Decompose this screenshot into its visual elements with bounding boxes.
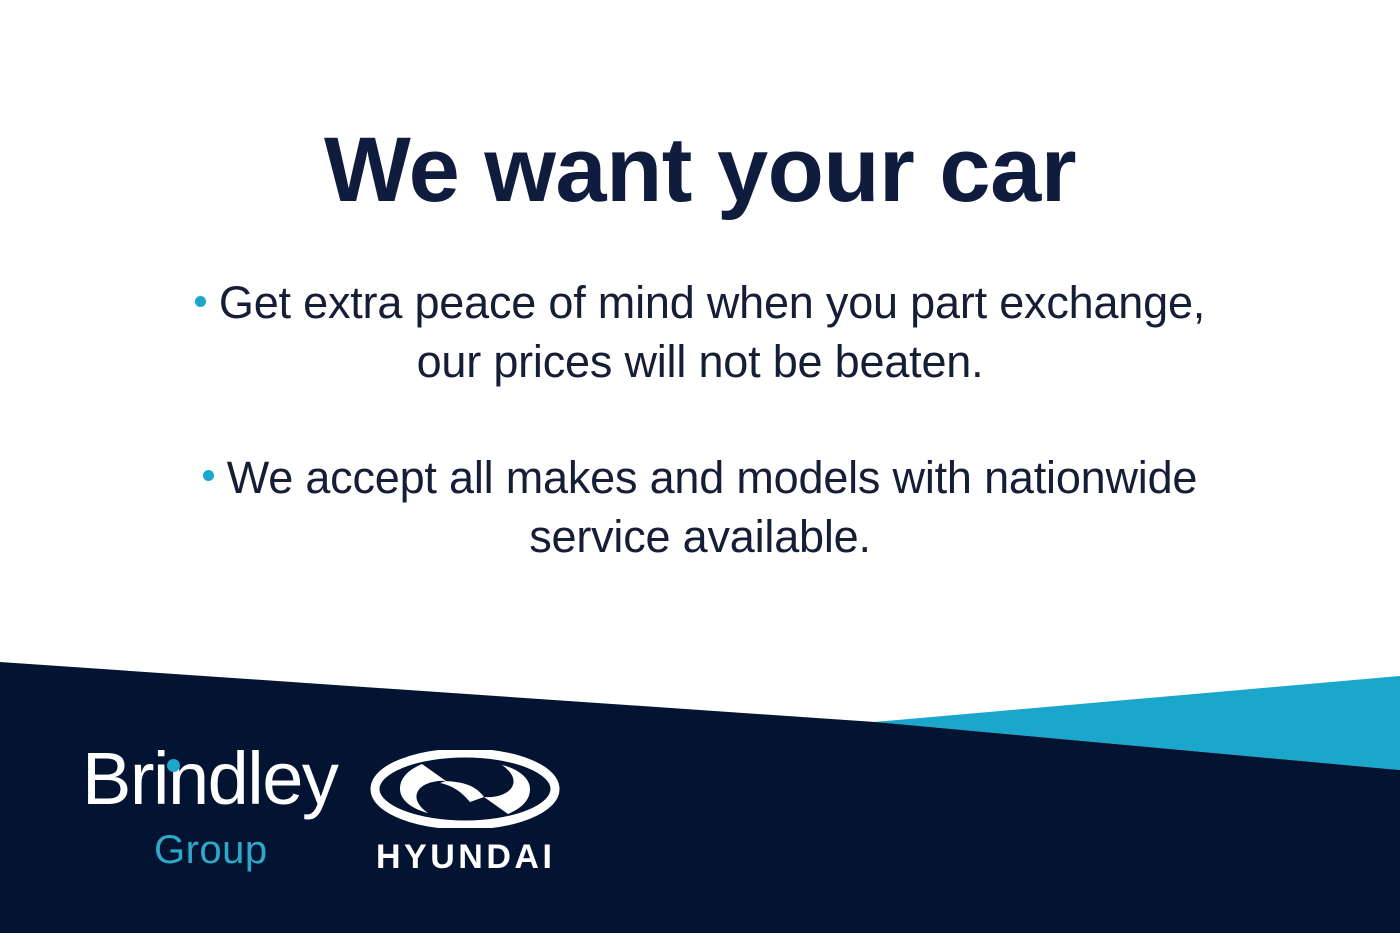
list-item: We accept all makes and models with nati… (180, 448, 1220, 567)
hyundai-emblem-icon (370, 750, 560, 828)
brindley-tittle-dot-icon (167, 759, 180, 772)
hyundai-wordmark: HYUNDAI (376, 840, 555, 874)
hyundai-logo: HYUNDAI (370, 750, 570, 880)
footer-logo-row: Brindley Group HYUNDAI (0, 742, 1400, 892)
list-item-text: We accept all makes and models with nati… (227, 452, 1197, 562)
bullet-dot-icon (203, 470, 214, 481)
promo-slide: We want your car Get extra peace of mind… (0, 0, 1400, 933)
list-item: Get extra peace of mind when you part ex… (180, 273, 1220, 392)
brindley-wordmark: Brindley (82, 742, 337, 816)
page-title: We want your car (0, 124, 1400, 216)
bullet-list: Get extra peace of mind when you part ex… (180, 228, 1220, 612)
bullet-dot-icon (195, 296, 206, 307)
brindley-group-logo: Brindley Group (82, 742, 342, 882)
list-item-text: Get extra peace of mind when you part ex… (219, 277, 1205, 387)
brindley-subtitle: Group (154, 830, 268, 870)
